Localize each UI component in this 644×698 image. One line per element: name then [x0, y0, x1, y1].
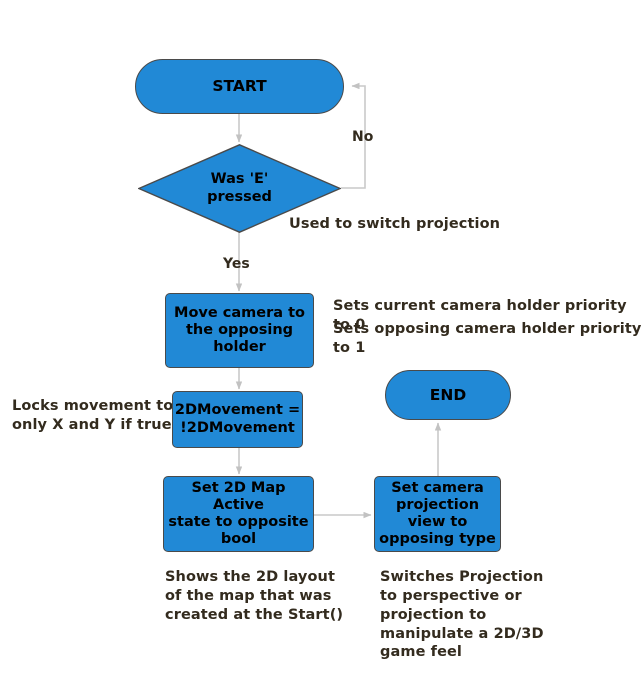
node-set-2d-map-active[interactable]: Set 2D Map Active state to opposite bool: [163, 476, 314, 552]
node-set-camera-projection-view[interactable]: Set camera projection view to opposing t…: [374, 476, 501, 552]
flowchart-canvas: START Was 'E' pressed No Used to switch …: [0, 0, 644, 698]
node-start[interactable]: START: [135, 59, 344, 114]
annotation-shows-2d-layout: Shows the 2D layout of the map that was …: [165, 568, 343, 625]
annotation-locks-movement: Locks movement to only X and Y if true: [12, 397, 173, 435]
annotation-used-to-switch-projection: Used to switch projection: [289, 215, 500, 234]
node-decision-label: Was 'E' pressed: [207, 171, 272, 206]
node-move-camera-to-opposing-holder[interactable]: Move camera to the opposing holder: [165, 293, 314, 368]
node-toggle-2d-movement[interactable]: 2DMovement = !2DMovement: [172, 391, 303, 448]
annotation-switches-projection: Switches Projection to perspective or pr…: [380, 568, 544, 662]
node-end[interactable]: END: [385, 370, 511, 420]
edge-label-yes: Yes: [223, 256, 250, 272]
annotation-sets-opposing-camera-priority: Sets opposing camera holder priority to …: [333, 320, 644, 358]
edge-label-no: No: [352, 129, 373, 145]
